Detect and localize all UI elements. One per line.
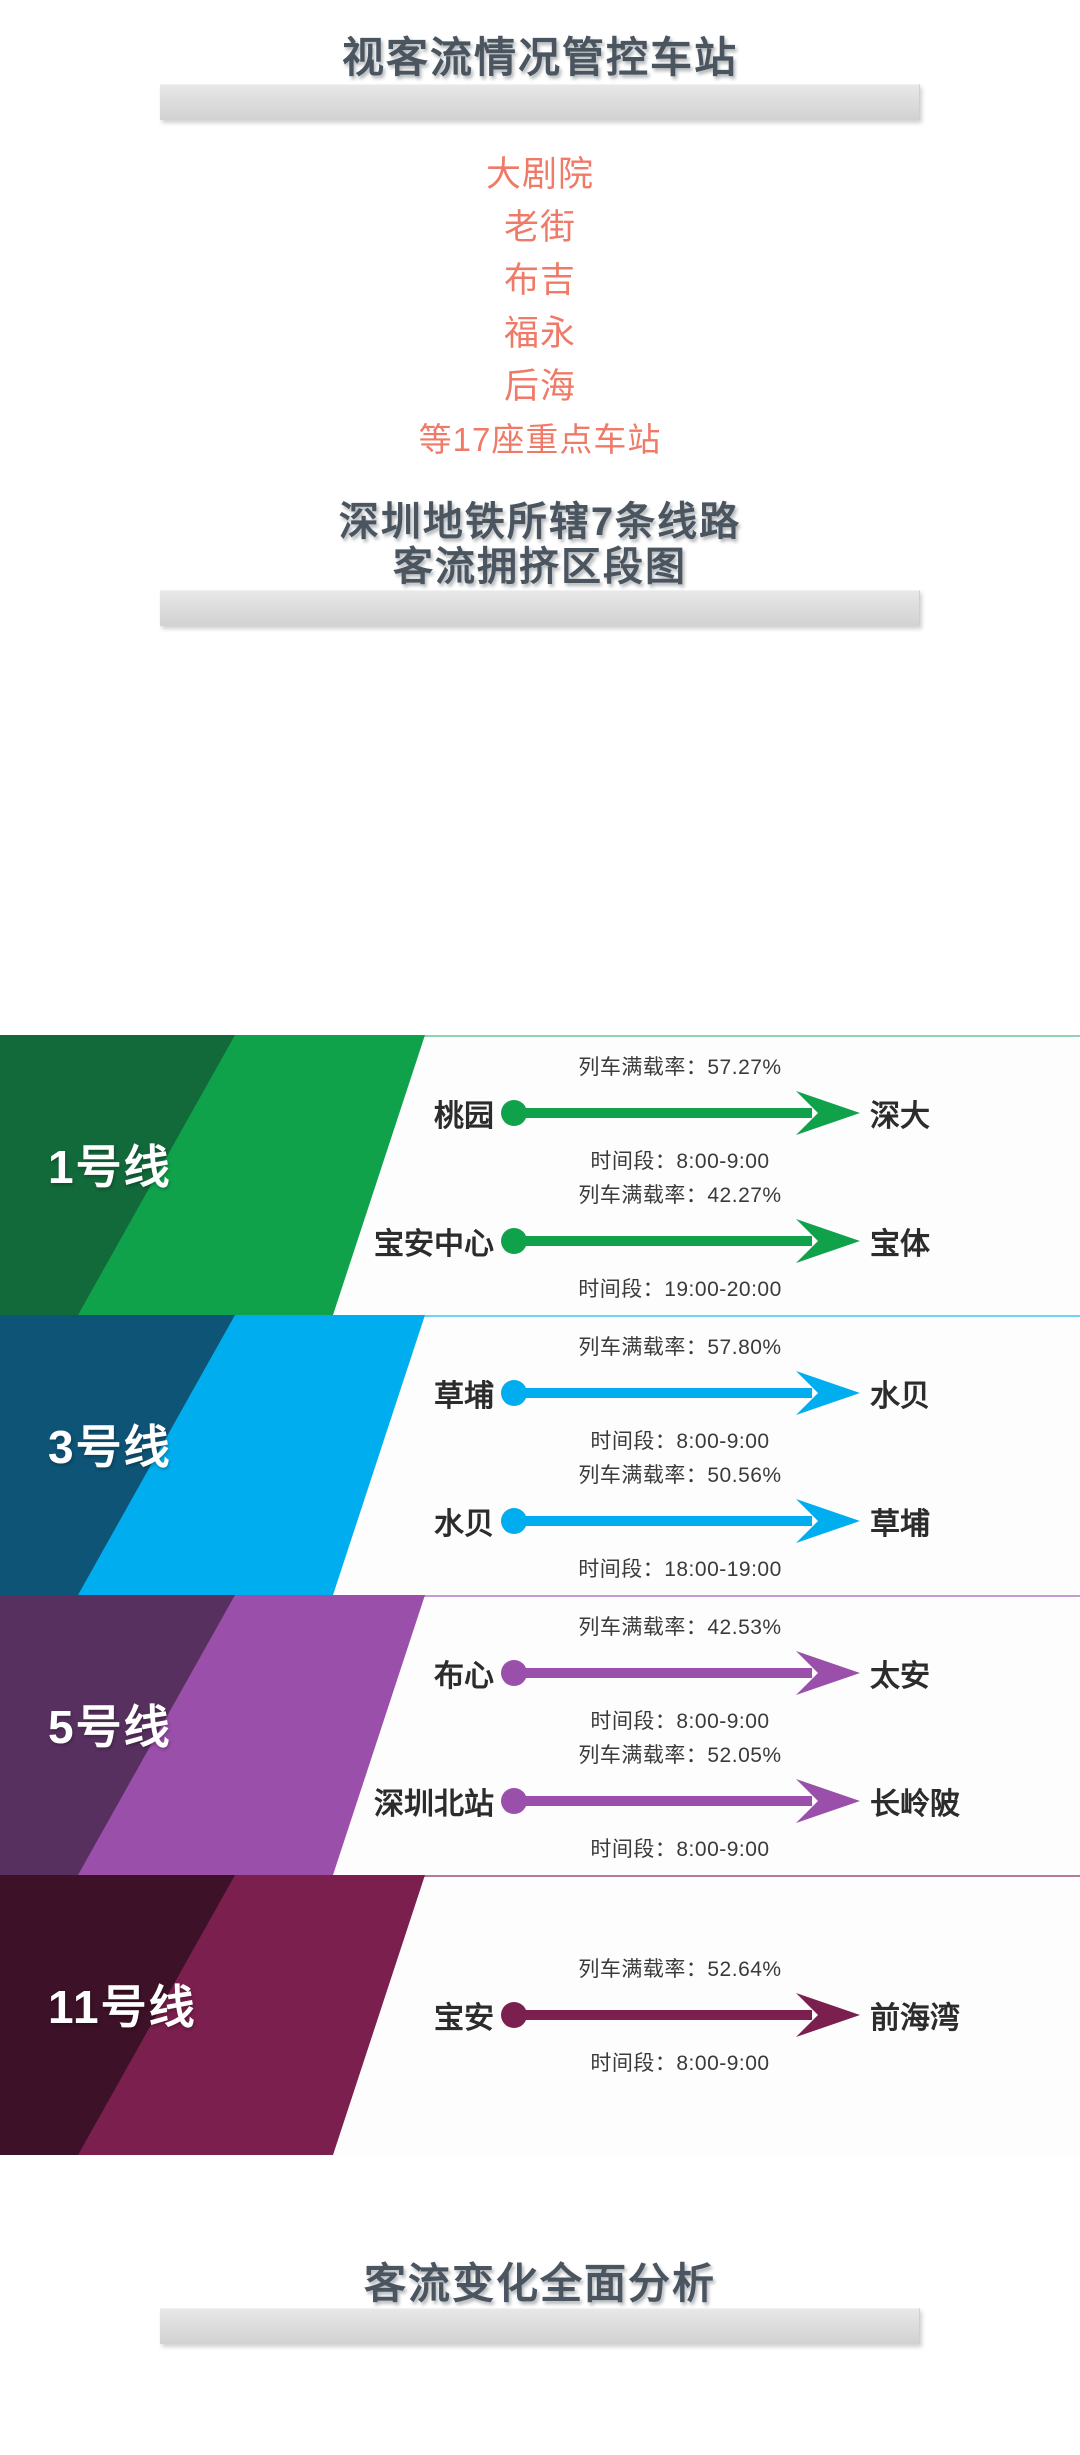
route-origin-station: 布心 — [434, 1651, 494, 1695]
route-origin-station: 桃园 — [434, 1091, 494, 1135]
route-item: 水贝草埔列车满载率：50.56%时间段：18:00-19:00 — [500, 1465, 860, 1577]
line-band: 1号线桃园深大列车满载率：57.27%时间段：8:00-9:00宝安中心宝体列车… — [0, 1035, 1080, 1315]
line-band: 11号线宝安前海湾列车满载率：52.64%时间段：8:00-9:00 — [0, 1875, 1080, 2155]
route-time-window-label: 时间段：19:00-20:00 — [578, 1273, 782, 1303]
route-origin-station: 水贝 — [434, 1499, 494, 1543]
line-band: 3号线草埔水贝列车满载率：57.80%时间段：8:00-9:00水贝草埔列车满载… — [0, 1315, 1080, 1595]
route-arrow-icon — [500, 1371, 860, 1415]
route-time-window-label: 时间段：8:00-9:00 — [590, 2047, 769, 2077]
route-time-window-label: 时间段：8:00-9:00 — [590, 1145, 769, 1175]
route-arrow-shaft — [514, 1236, 812, 1246]
route-item: 深圳北站长岭陂列车满载率：52.05%时间段：8:00-9:00 — [500, 1745, 860, 1857]
route-load-rate-label: 列车满载率：57.80% — [578, 1331, 781, 1361]
route-load-rate-label: 列车满载率：42.53% — [578, 1611, 781, 1641]
banner-bar-decoration — [160, 84, 920, 120]
line-bands-container: 1号线桃园深大列车满载率：57.27%时间段：8:00-9:00宝安中心宝体列车… — [0, 1035, 1080, 2155]
route-load-rate-label: 列车满载率：52.05% — [578, 1739, 781, 1769]
list-summary: 等17座重点车站 — [0, 413, 1080, 466]
list-item: 布吉 — [0, 254, 1080, 307]
route-destination-station: 深大 — [870, 1091, 930, 1135]
route-arrow-shaft — [514, 1388, 812, 1398]
list-item: 福永 — [0, 307, 1080, 360]
top-banner-title: 视客流情况管控车站 — [0, 34, 1080, 81]
route-destination-station: 宝体 — [870, 1219, 930, 1263]
route-arrow-icon — [500, 1651, 860, 1695]
banner-bar-decoration — [160, 590, 920, 626]
route-arrow-shaft — [514, 1108, 812, 1118]
route-time-window-label: 时间段：8:00-9:00 — [590, 1833, 769, 1863]
route-origin-station: 宝安中心 — [374, 1219, 494, 1263]
route-item: 布心太安列车满载率：42.53%时间段：8:00-9:00 — [500, 1617, 860, 1729]
route-arrow-shaft — [514, 1668, 812, 1678]
route-time-window-label: 时间段：8:00-9:00 — [590, 1425, 769, 1455]
route-arrow-shaft — [514, 1796, 812, 1806]
route-load-rate-label: 列车满载率：42.27% — [578, 1179, 781, 1209]
top-banner: 视客流情况管控车站 — [0, 34, 1080, 81]
route-origin-station: 深圳北站 — [374, 1779, 494, 1823]
route-origin-station: 宝安 — [434, 1993, 494, 2037]
route-arrow-shaft — [514, 2010, 812, 2020]
middle-banner-title: 深圳地铁所辖7条线路 客流拥挤区段图 — [0, 500, 1080, 590]
route-arrow-icon — [500, 1091, 860, 1135]
list-item: 老街 — [0, 201, 1080, 254]
route-item: 宝安前海湾列车满载率：52.64%时间段：8:00-9:00 — [500, 1959, 860, 2071]
middle-banner: 深圳地铁所辖7条线路 客流拥挤区段图 — [0, 500, 1080, 590]
route-arrow-icon — [500, 1219, 860, 1263]
list-item: 大剧院 — [0, 148, 1080, 201]
key-station-list: 大剧院 老街 布吉 福永 后海 等17座重点车站 — [0, 148, 1080, 466]
route-origin-station: 草埔 — [434, 1371, 494, 1415]
banner-bar-decoration — [160, 2308, 920, 2344]
route-arrow-shaft — [514, 1516, 812, 1526]
route-item: 草埔水贝列车满载率：57.80%时间段：8:00-9:00 — [500, 1337, 860, 1449]
route-arrow-icon — [500, 1499, 860, 1543]
route-destination-station: 太安 — [870, 1651, 930, 1695]
route-list: 草埔水贝列车满载率：57.80%时间段：8:00-9:00水贝草埔列车满载率：5… — [0, 1315, 1080, 1595]
route-list: 布心太安列车满载率：42.53%时间段：8:00-9:00深圳北站长岭陂列车满载… — [0, 1595, 1080, 1875]
route-load-rate-label: 列车满载率：52.64% — [578, 1953, 781, 1983]
route-destination-station: 长岭陂 — [870, 1779, 960, 1823]
route-load-rate-label: 列车满载率：50.56% — [578, 1459, 781, 1489]
route-time-window-label: 时间段：18:00-19:00 — [578, 1553, 782, 1583]
route-destination-station: 前海湾 — [870, 1993, 960, 2037]
route-item: 宝安中心宝体列车满载率：42.27%时间段：19:00-20:00 — [500, 1185, 860, 1297]
route-list: 宝安前海湾列车满载率：52.64%时间段：8:00-9:00 — [0, 1875, 1080, 2155]
route-item: 桃园深大列车满载率：57.27%时间段：8:00-9:00 — [500, 1057, 860, 1169]
bottom-banner: 客流变化全面分析 — [0, 2260, 1080, 2307]
route-time-window-label: 时间段：8:00-9:00 — [590, 1705, 769, 1735]
line-band: 5号线布心太安列车满载率：42.53%时间段：8:00-9:00深圳北站长岭陂列… — [0, 1595, 1080, 1875]
bottom-banner-title: 客流变化全面分析 — [0, 2260, 1080, 2307]
route-load-rate-label: 列车满载率：57.27% — [578, 1051, 781, 1081]
route-arrow-icon — [500, 1779, 860, 1823]
list-item: 后海 — [0, 360, 1080, 413]
route-list: 桃园深大列车满载率：57.27%时间段：8:00-9:00宝安中心宝体列车满载率… — [0, 1035, 1080, 1315]
route-arrow-icon — [500, 1993, 860, 2037]
route-destination-station: 水贝 — [870, 1371, 930, 1415]
route-destination-station: 草埔 — [870, 1499, 930, 1543]
